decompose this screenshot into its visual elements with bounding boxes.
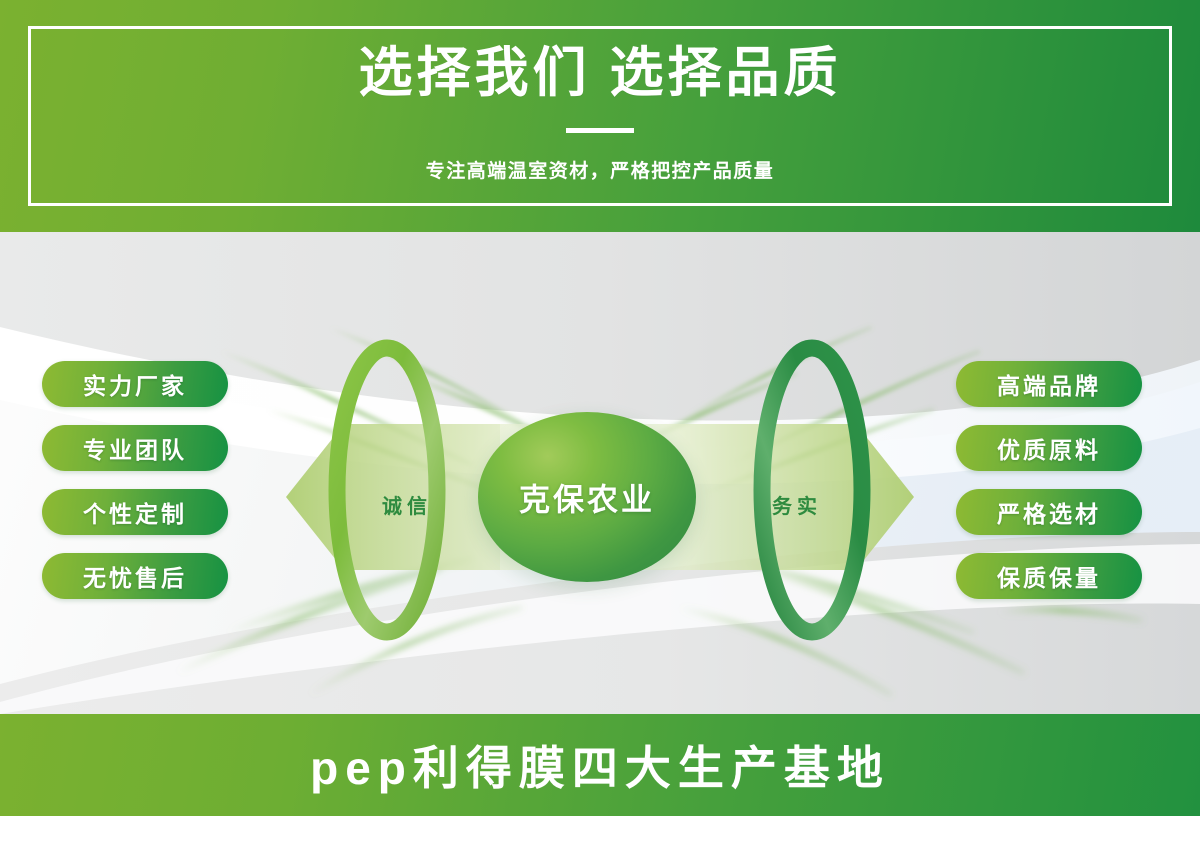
page-title: 选择我们 选择品质 bbox=[0, 44, 1200, 103]
feature-pill-label: 优质原料 bbox=[997, 431, 1101, 465]
main-illustration-area: 克保农业 诚信 务实 实力厂家 专业团队 个性定制 无忧售后 高端品牌 优质原料… bbox=[0, 232, 1200, 714]
feature-pill-label: 高端品牌 bbox=[997, 367, 1101, 401]
feature-pill-label: 严格选材 bbox=[997, 495, 1101, 529]
feature-pill-right-1[interactable]: 高端品牌 bbox=[956, 361, 1142, 407]
feature-pill-left-3[interactable]: 个性定制 bbox=[42, 489, 228, 535]
feature-pill-left-1[interactable]: 实力厂家 bbox=[42, 361, 228, 407]
feature-pill-left-2[interactable]: 专业团队 bbox=[42, 425, 228, 471]
title-divider bbox=[566, 128, 634, 133]
brand-name: 克保农业 bbox=[478, 475, 696, 520]
feature-pill-label: 专业团队 bbox=[83, 431, 187, 465]
promo-banner: 选择我们 选择品质 专注高端温室资材，严格把控产品质量 bbox=[0, 0, 1200, 860]
footer-banner: pep利得膜四大生产基地 bbox=[0, 714, 1200, 816]
feature-pill-label: 实力厂家 bbox=[83, 367, 187, 401]
value-word-left: 诚信 bbox=[352, 490, 462, 519]
feature-pill-label: 无忧售后 bbox=[83, 559, 187, 593]
footer-whitespace bbox=[0, 816, 1200, 860]
footer-title: pep利得膜四大生产基地 bbox=[0, 732, 1200, 798]
feature-pill-label: 保质保量 bbox=[997, 559, 1101, 593]
feature-pill-right-4[interactable]: 保质保量 bbox=[956, 553, 1142, 599]
feature-pill-left-4[interactable]: 无忧售后 bbox=[42, 553, 228, 599]
feature-pill-right-2[interactable]: 优质原料 bbox=[956, 425, 1142, 471]
feature-pill-label: 个性定制 bbox=[83, 495, 187, 529]
brand-sphere: 克保农业 bbox=[478, 412, 696, 582]
value-word-right: 务实 bbox=[742, 490, 852, 519]
feature-pill-right-3[interactable]: 严格选材 bbox=[956, 489, 1142, 535]
header-subtitle: 专注高端温室资材，严格把控产品质量 bbox=[0, 156, 1200, 183]
header-banner: 选择我们 选择品质 专注高端温室资材，严格把控产品质量 bbox=[0, 0, 1200, 232]
